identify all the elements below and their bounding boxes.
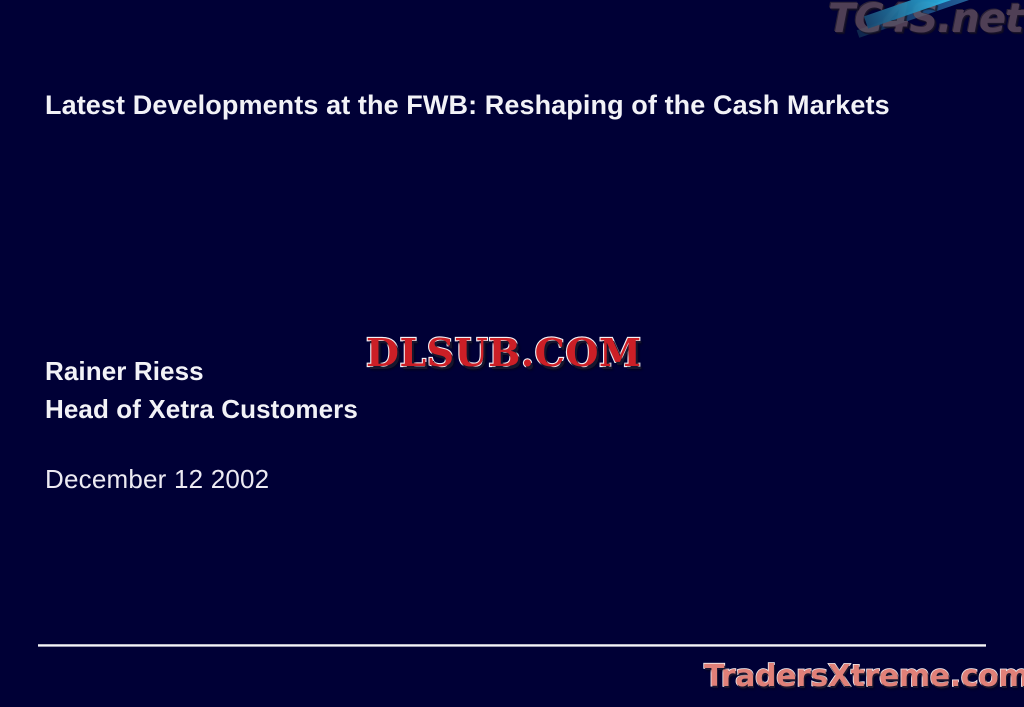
presentation-slide: Latest Developments at the FWB: Reshapin…	[0, 0, 1024, 707]
slide-title: Latest Developments at the FWB: Reshapin…	[45, 84, 925, 127]
watermark-tc4s: TC4S.net	[828, 0, 1024, 56]
presenter-role: Head of Xetra Customers	[45, 390, 645, 428]
watermark-tradersxtreme: TradersXtreme.com	[704, 659, 1024, 694]
footer-divider	[38, 644, 986, 647]
slide-date: December 12 2002	[45, 462, 269, 496]
watermark-dlsub: DLSUB.COM	[366, 330, 642, 375]
